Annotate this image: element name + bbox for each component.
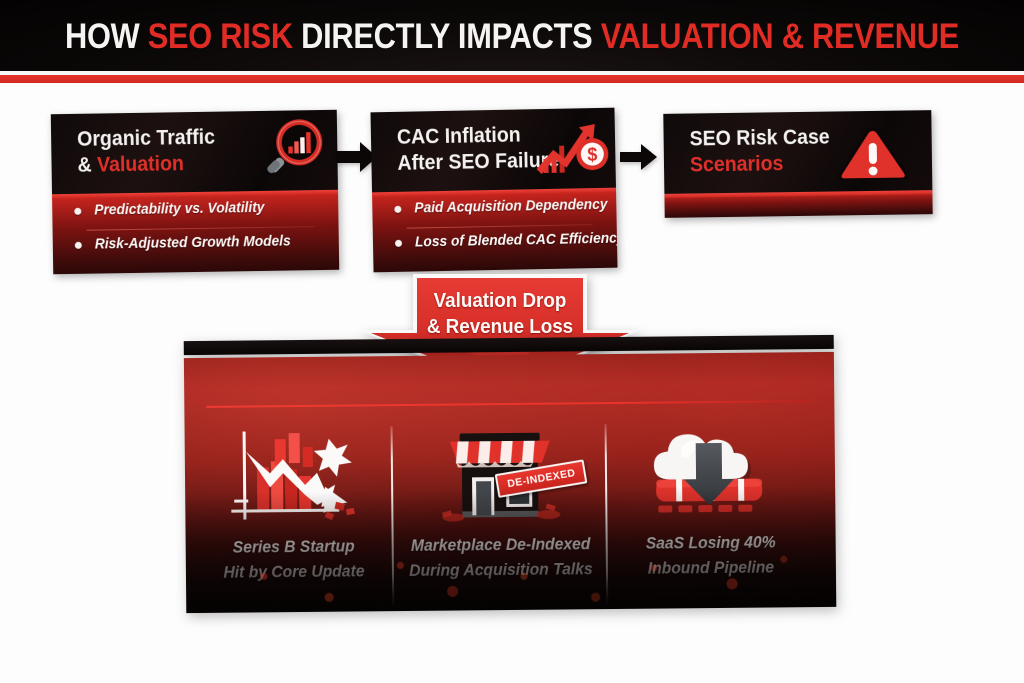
title-part-1: HOW	[65, 17, 148, 56]
scenario-caption: Marketplace De-Indexed During Acquisitio…	[406, 532, 596, 584]
header-accent-rule	[0, 75, 1024, 83]
card-seo-risk-case-scenarios[interactable]: SEO Risk Case Scenarios	[663, 110, 932, 218]
bullet-dot-icon	[75, 241, 82, 248]
caption-line1: Series B Startup	[199, 534, 389, 561]
cloud-down-arrow-pipeline-icon	[609, 412, 810, 534]
page-title: HOW SEO RISK DIRECTLY IMPACTS VALUATION …	[61, 18, 962, 56]
title-part-2: SEO RISK	[148, 17, 301, 56]
bullet-label: Predictability vs. Volatility	[94, 200, 264, 219]
arrow-card2-to-card3-icon	[620, 142, 658, 177]
card-title-line1: Organic Traffic	[77, 125, 215, 153]
scenarios-panel: Series B Startup Hit by Core Update	[184, 335, 837, 613]
scenario-caption: SaaS Losing 40% Inbound Pipeline	[616, 530, 806, 582]
warning-triangle-icon	[831, 122, 914, 190]
card-organic-traffic-valuation[interactable]: Organic Traffic & Valuation	[51, 110, 339, 274]
caption-line2: Inbound Pipeline	[616, 555, 806, 582]
card-title: SEO Risk Case Scenarios	[689, 125, 830, 179]
caption-line1: SaaS Losing 40%	[616, 530, 806, 557]
card-cac-inflation[interactable]: CAC Inflation After SEO Failure $ Paid A…	[370, 108, 617, 273]
card-body: Paid Acquisition Dependency Loss of Blen…	[372, 188, 617, 273]
rising-arrow-dollar-icon: $	[531, 118, 614, 187]
bullet-dot-icon	[74, 207, 81, 214]
caption-line2: During Acquisition Talks	[406, 557, 596, 584]
scenario-saas-inbound-pipeline[interactable]: SaaS Losing 40% Inbound Pipeline	[609, 412, 811, 604]
declining-chart-arrow-icon	[192, 416, 393, 538]
card-body	[664, 190, 932, 218]
bullet-label: Loss of Blended CAC Efficiency	[415, 231, 618, 251]
card-header: CAC Inflation After SEO Failure $	[370, 108, 615, 193]
svg-text:$: $	[587, 145, 597, 165]
card-title-line2: & Valuation	[77, 151, 215, 179]
scenario-caption: Series B Startup Hit by Core Update	[199, 534, 389, 586]
card-title: Organic Traffic & Valuation	[77, 125, 216, 179]
list-item[interactable]: Risk-Adjusted Growth Models	[53, 224, 339, 262]
scenario-series-b-startup[interactable]: Series B Startup Hit by Core Update	[192, 416, 394, 608]
title-part-4: VALUATION & REVENUE	[601, 17, 959, 56]
title-part-3: DIRECTLY IMPACTS	[301, 17, 601, 56]
card-body: Predictability vs. Volatility Risk-Adjus…	[52, 190, 339, 274]
bullet-dot-icon	[394, 205, 401, 212]
panel-accent-rule	[206, 400, 812, 408]
list-item[interactable]: Paid Acquisition Dependency	[372, 188, 617, 227]
infographic-canvas: HOW SEO RISK DIRECTLY IMPACTS VALUATION …	[0, 0, 1024, 683]
header-bar: HOW SEO RISK DIRECTLY IMPACTS VALUATION …	[0, 0, 1024, 71]
list-item[interactable]: Loss of Blended CAC Efficiency	[373, 222, 618, 261]
caption-line1: Marketplace De-Indexed	[406, 532, 596, 559]
header-rule-white-lower	[0, 83, 1024, 86]
card-title-line1: SEO Risk Case	[689, 125, 829, 153]
card-header: Organic Traffic & Valuation	[51, 110, 338, 194]
magnifier-bar-chart-icon	[255, 116, 330, 192]
bullet-label: Risk-Adjusted Growth Models	[95, 234, 291, 253]
list-item[interactable]: Predictability vs. Volatility	[52, 190, 338, 228]
column-divider	[605, 424, 609, 604]
card-title-line2: Scenarios	[690, 151, 830, 179]
scenario-marketplace-de-indexed[interactable]: DE-INDEXED Marketplace De-Indexed During…	[399, 414, 601, 606]
card-header: SEO Risk Case Scenarios	[663, 110, 932, 194]
bullet-dot-icon	[395, 239, 402, 246]
panel-body: Series B Startup Hit by Core Update	[184, 352, 836, 613]
caption-line2: Hit by Core Update	[199, 559, 389, 586]
bullet-label: Paid Acquisition Dependency	[414, 197, 607, 217]
